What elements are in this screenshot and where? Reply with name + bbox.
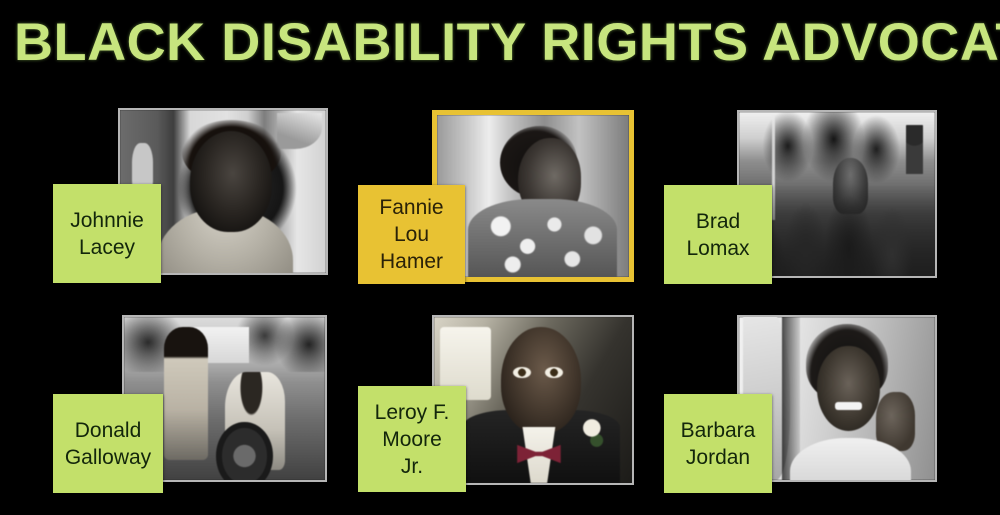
advocate-name-barbara-jordan[interactable]: Barbara Jordan (664, 394, 772, 493)
name-line: Galloway (65, 444, 151, 471)
page-title: BLACK DISABILITY RIGHTS ADVOCATES (14, 12, 1000, 74)
name-line: Lou (394, 221, 429, 248)
advocate-name-brad-lomax[interactable]: Brad Lomax (664, 185, 772, 284)
photo-image (437, 115, 629, 277)
name-line: Johnnie (70, 207, 144, 234)
name-line: Moore (382, 426, 442, 453)
name-line: Donald (75, 417, 142, 444)
name-line: Jr. (401, 453, 423, 480)
name-line: Lacey (79, 234, 135, 261)
slide-root: BLACK DISABILITY RIGHTS ADVOCATES Johnni… (0, 0, 1000, 515)
name-line: Barbara (681, 417, 756, 444)
name-line: Lomax (686, 235, 749, 262)
advocate-name-johnnie-lacey[interactable]: Johnnie Lacey (53, 184, 161, 283)
name-line: Fannie (379, 194, 443, 221)
advocate-name-fannie-lou-hamer[interactable]: Fannie Lou Hamer (358, 185, 465, 284)
name-line: Leroy F. (375, 399, 450, 426)
name-line: Brad (696, 208, 740, 235)
name-line: Hamer (380, 248, 443, 275)
advocate-name-leroy-f-moore-jr[interactable]: Leroy F. Moore Jr. (358, 386, 466, 492)
advocate-name-donald-galloway[interactable]: Donald Galloway (53, 394, 163, 493)
name-line: Jordan (686, 444, 750, 471)
